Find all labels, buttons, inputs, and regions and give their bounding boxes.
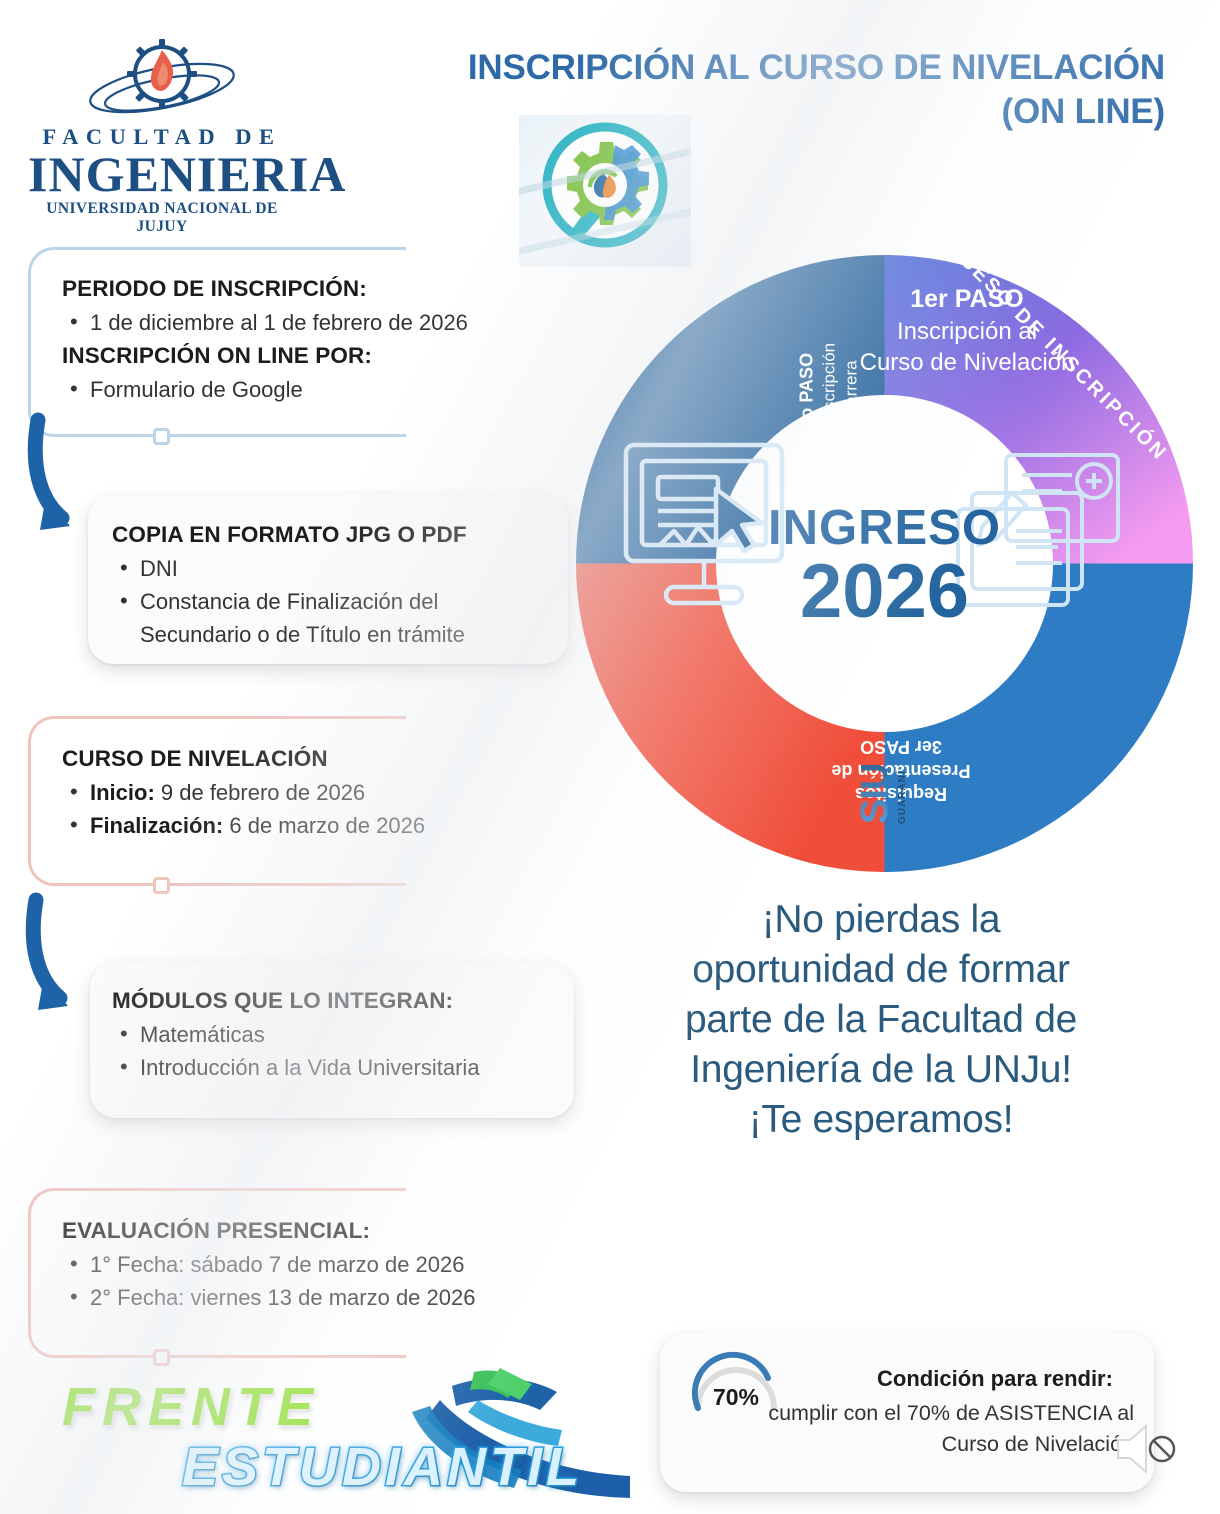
list-item: Formulario de Google	[62, 373, 602, 406]
donut-label-paso-2: 2do PASO Preinscripción a Carrera	[796, 311, 863, 481]
donut-center-label: INGRESO 2026	[735, 499, 1035, 627]
list-item: Matemáticas	[112, 1018, 572, 1051]
flame-gear-logo-icon	[28, 30, 296, 122]
slogan-line-3: parte de la Facultad de	[596, 995, 1166, 1045]
slogan-line-2: oportunidad de formar	[596, 945, 1166, 995]
block-curso: CURSO DE NIVELACIÓN Inicio: 9 de febrero…	[62, 746, 602, 842]
block-periodo-list2: Formulario de Google	[62, 373, 602, 406]
list-item: 2° Fecha: viernes 13 de marzo de 2026	[62, 1281, 622, 1314]
slogan-text: ¡No pierdas la oportunidad de formar par…	[596, 895, 1166, 1145]
list-item-line1: Constancia de Finalización del	[140, 589, 438, 614]
speaker-muted-icon[interactable]	[1114, 1420, 1182, 1478]
estudiantil-word: ESTUDIANTIL	[182, 1436, 583, 1498]
slogan-line-4: Ingeniería de la UNJu!	[596, 1045, 1166, 1095]
bracket-tail	[59, 1355, 155, 1358]
faculty-logo: FACULTAD DE INGENIERIA UNIVERSIDAD NACIO…	[28, 30, 296, 236]
list-item: DNI	[112, 552, 562, 585]
donut-center-line1: INGRESO	[735, 499, 1035, 555]
list-item-value: 9 de febrero de 2026	[155, 780, 365, 805]
paso-2-line1: Preinscripción	[819, 311, 841, 481]
condition-card-inner: 70% Condición para rendir: cumplir con e…	[660, 1332, 1154, 1492]
block-copia-list: DNI Constancia de Finalización del Secun…	[112, 552, 562, 651]
bracket-dot	[153, 428, 170, 445]
frente-estudiantil-logo: FRENTE ESTUDIANTIL	[52, 1372, 652, 1512]
block-curso-heading: CURSO DE NIVELACIÓN	[62, 746, 602, 772]
list-item: Finalización: 6 de marzo de 2026	[62, 809, 602, 842]
slogan-line-1: ¡No pierdas la	[596, 895, 1166, 945]
block-curso-list: Inicio: 9 de febrero de 2026 Finalizació…	[62, 776, 602, 842]
list-item: 1 de diciembre al 1 de febrero de 2026	[62, 306, 602, 339]
siu-brand-sub: GUARANÍ	[897, 694, 908, 824]
list-item-label: Finalización:	[90, 813, 223, 838]
logo-name-text: INGENIERIA	[28, 150, 296, 199]
block-periodo-list: 1 de diciembre al 1 de febrero de 2026	[62, 306, 602, 339]
list-item: Inicio: 9 de febrero de 2026	[62, 776, 602, 809]
block-periodo-heading2: INSCRIPCIÓN ON LINE POR:	[62, 343, 602, 369]
block-copia: COPIA EN FORMATO JPG O PDF DNI Constanci…	[112, 522, 562, 651]
block-modulos: MÓDULOS QUE LO INTEGRAN: Matemáticas Int…	[112, 988, 572, 1084]
poster-canvas: FACULTAD DE INGENIERIA UNIVERSIDAD NACIO…	[0, 0, 1220, 1514]
list-item: Introducción a la Vida Universitaria	[112, 1051, 572, 1084]
frente-word: FRENTE	[62, 1376, 320, 1438]
list-item-label: Inicio:	[90, 780, 155, 805]
paso-2-step: 2do PASO	[796, 311, 819, 481]
logo-university-text: UNIVERSIDAD NACIONAL DE JUJUY	[28, 200, 296, 236]
block-evaluacion-heading: EVALUACIÓN PRESENCIAL:	[62, 1218, 622, 1244]
siu-guarani-logo: SIU GUARANÍ	[854, 694, 908, 824]
block-evaluacion: EVALUACIÓN PRESENCIAL: 1° Fecha: sábado …	[62, 1218, 622, 1314]
list-item-value: 6 de marzo de 2026	[223, 813, 425, 838]
donut-center-line2: 2026	[735, 555, 1035, 627]
list-item: Constancia de Finalización del Secundari…	[112, 585, 562, 651]
condition-body-line2: Curso de Nivelación	[682, 1429, 1134, 1460]
page-title-line2: (ON LINE)	[315, 90, 1165, 134]
process-donut-chart: 1er PASO Inscripción al Curso de Nivelac…	[566, 245, 1203, 882]
block-modulos-heading: MÓDULOS QUE LO INTEGRAN:	[112, 988, 572, 1014]
condition-title: Condición para rendir:	[850, 1366, 1140, 1392]
siu-brand: SIU	[854, 694, 897, 824]
condition-body: cumplir con el 70% de ASISTENCIA al Curs…	[682, 1398, 1134, 1460]
block-copia-heading: COPIA EN FORMATO JPG O PDF	[112, 522, 562, 548]
condition-card: 70% Condición para rendir: cumplir con e…	[660, 1332, 1154, 1492]
block-evaluacion-list: 1° Fecha: sábado 7 de marzo de 2026 2° F…	[62, 1248, 622, 1314]
slogan-line-5: ¡Te esperamos!	[596, 1095, 1166, 1145]
page-title-line1: INSCRIPCIÓN AL CURSO DE NIVELACIÓN	[315, 46, 1165, 90]
bracket-dot	[153, 1349, 170, 1366]
list-item: 1° Fecha: sábado 7 de marzo de 2026	[62, 1248, 622, 1281]
condition-body-line1: cumplir con el 70% de ASISTENCIA al	[682, 1398, 1134, 1429]
block-periodo: PERIODO DE INSCRIPCIÓN: 1 de diciembre a…	[62, 276, 602, 406]
bracket-dot	[153, 877, 170, 894]
page-title: INSCRIPCIÓN AL CURSO DE NIVELACIÓN (ON L…	[315, 46, 1165, 135]
list-item-line2: Secundario o de Título en trámite	[140, 618, 562, 651]
paso-2-line2: a Carrera	[841, 311, 863, 481]
block-modulos-list: Matemáticas Introducción a la Vida Unive…	[112, 1018, 572, 1084]
block-periodo-heading: PERIODO DE INSCRIPCIÓN:	[62, 276, 602, 302]
